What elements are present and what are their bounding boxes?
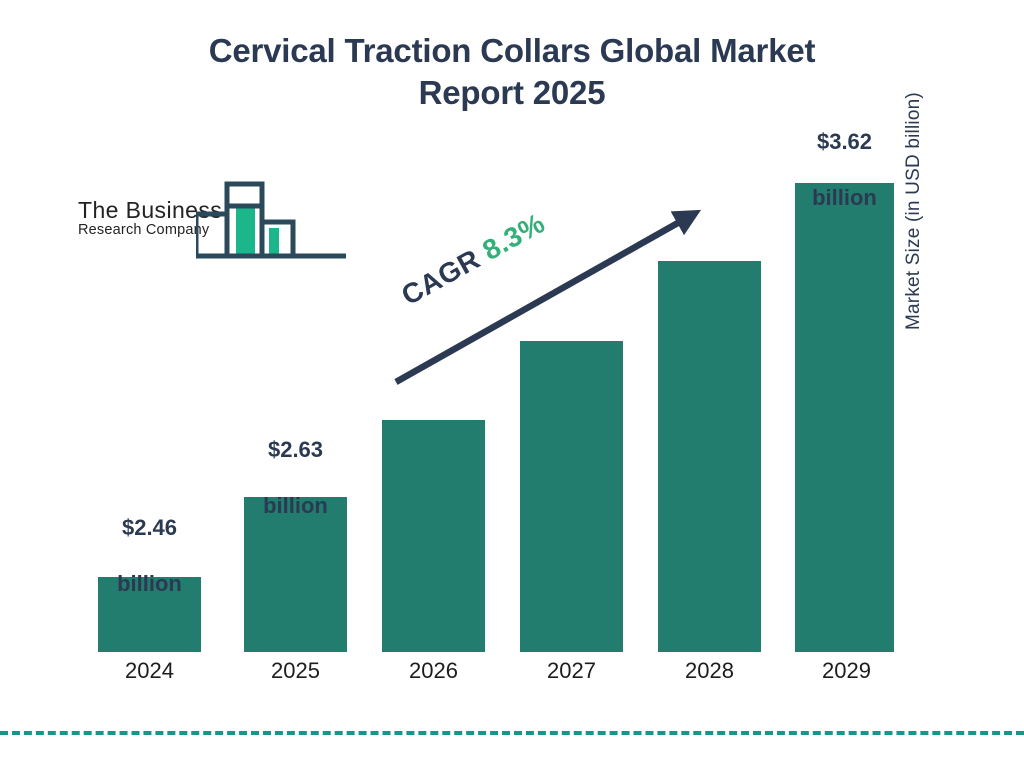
bar-2029[interactable] (795, 183, 894, 652)
bar-2027[interactable] (520, 341, 623, 652)
x-axis-label-2029: 2029 (785, 658, 908, 684)
bar-value-2025-line-1: $2.63 (224, 436, 367, 464)
cagr-prefix: CAGR (396, 243, 485, 311)
y-axis-title: Market Size (in USD billion) (903, 0, 925, 330)
bar-value-label-2029: $3.62 billion (773, 100, 916, 241)
footer-divider (0, 731, 1024, 735)
bar-value-label-2024: $2.46 billion (78, 486, 221, 627)
cagr-label: CAGR 8.3% (396, 207, 550, 312)
bar-2026[interactable] (382, 420, 485, 652)
x-axis-label-2027: 2027 (510, 658, 633, 684)
bar-chart-plot-area: $2.46 billion $2.63 billion $3.62 billio… (0, 0, 1024, 768)
bar-2028[interactable] (658, 261, 761, 652)
x-axis-label-2025: 2025 (234, 658, 357, 684)
x-axis-label-2026: 2026 (372, 658, 495, 684)
cagr-value: 8.3% (477, 207, 550, 266)
x-axis-label-2028: 2028 (648, 658, 771, 684)
bar-value-2024-line-2: billion (78, 570, 221, 598)
x-axis-label-2024: 2024 (88, 658, 211, 684)
chart-canvas: Cervical Traction Collars Global Market … (0, 0, 1024, 768)
bar-value-2029-line-1: $3.62 (773, 128, 916, 156)
bar-value-2025-line-2: billion (224, 492, 367, 520)
bar-value-2024-line-1: $2.46 (78, 514, 221, 542)
bar-value-label-2025: $2.63 billion (224, 408, 367, 549)
bar-value-2029-line-2: billion (773, 184, 916, 212)
